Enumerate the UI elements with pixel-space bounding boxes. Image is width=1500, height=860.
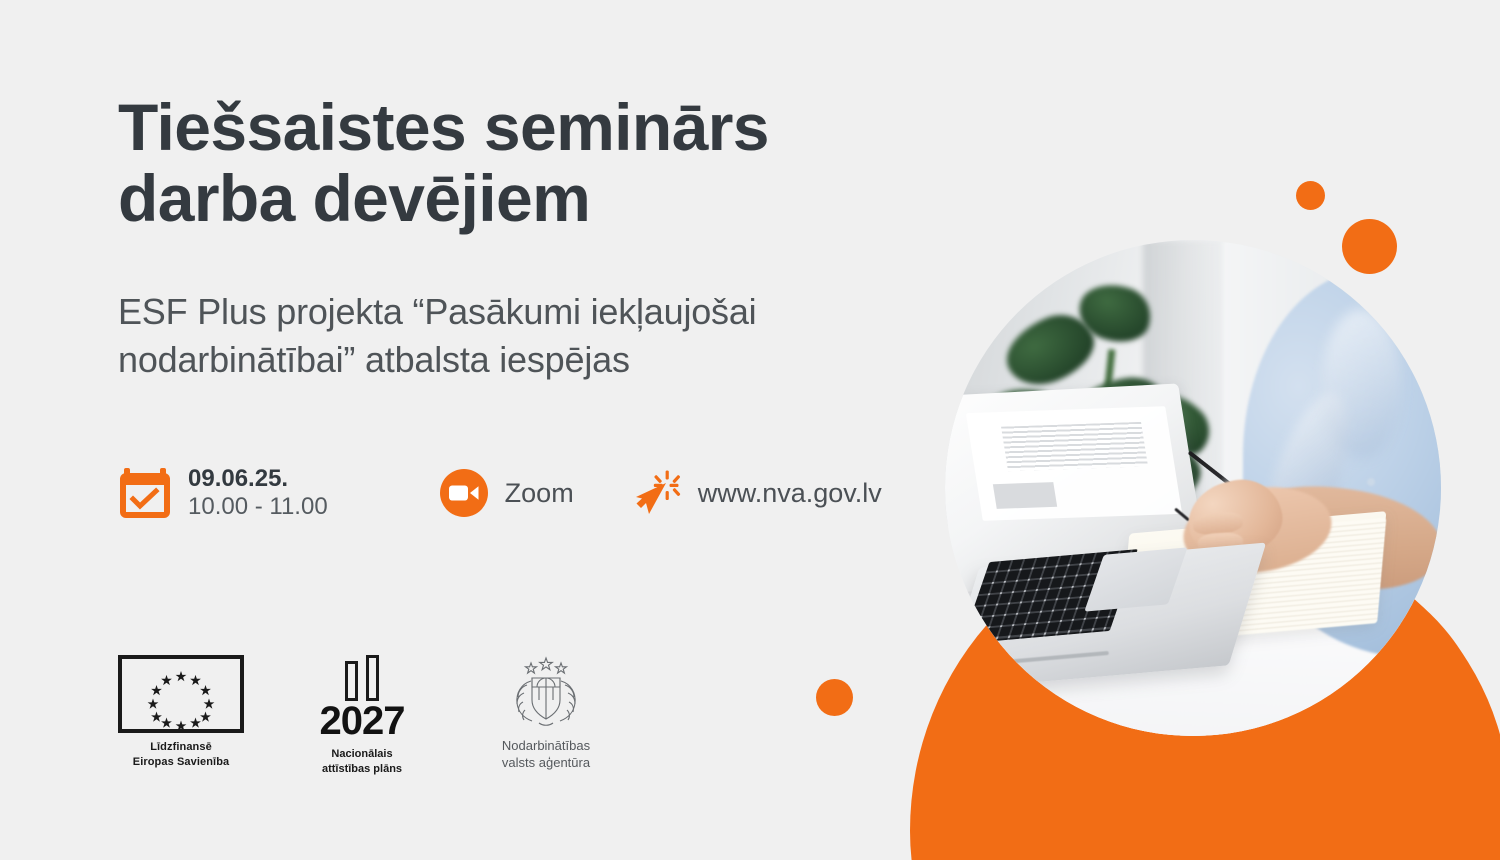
nva-logo: Nodarbinātības valsts aģentūra — [480, 655, 612, 772]
nap-year: 2027 — [320, 701, 405, 741]
calendar-check-icon — [118, 466, 172, 520]
page-subtitle: ESF Plus projekta “Pasākumi iekļaujošai … — [118, 288, 908, 384]
eu-caption-line1: Līdzfinansē — [150, 741, 212, 753]
page-title-line1: Tiešsaistes seminārs — [118, 90, 769, 164]
video-camera-icon — [440, 469, 488, 517]
hero-photo — [945, 240, 1441, 736]
nap-caption-line2: attīstības plāns — [322, 763, 402, 775]
latvia-coat-of-arms-icon — [501, 655, 591, 731]
nva-caption-line2: valsts aģentūra — [502, 755, 590, 770]
event-meta-row: 09.06.25. 10.00 - 11.00 Zoom — [118, 465, 882, 522]
nva-caption-line1: Nodarbinātības — [502, 738, 590, 753]
page-title: Tiešsaistes seminārs darba devējiem — [118, 92, 908, 233]
event-datetime: 09.06.25. 10.00 - 11.00 — [118, 465, 328, 522]
webinar-banner: Tiešsaistes seminārs darba devējiem ESF … — [0, 0, 1500, 860]
national-development-plan-logo: 2027 Nacionālais attīstības plāns — [302, 655, 422, 777]
event-time: 10.00 - 11.00 — [188, 493, 328, 520]
eu-caption-line2: Eiropas Savienība — [133, 756, 229, 768]
content-column: Tiešsaistes seminārs darba devējiem ESF … — [0, 0, 920, 860]
nap-bar-left — [345, 661, 358, 701]
website-label[interactable]: www.nva.gov.lv — [698, 478, 882, 509]
page-title-line2: darba devējiem — [118, 161, 590, 235]
eu-flag-icon — [118, 655, 244, 733]
page-subtitle-line1: ESF Plus projekta “Pasākumi iekļaujošai — [118, 291, 756, 332]
nap-caption-line1: Nacionālais — [331, 748, 392, 760]
page-subtitle-line2: nodarbinātībai” atbalsta iespējas — [118, 339, 630, 380]
decor-dot-small — [1296, 181, 1325, 210]
funder-logo-row: Līdzfinansē Eiropas Savienība 2027 Nacio… — [118, 655, 612, 777]
nap-bar-right — [366, 655, 379, 701]
event-platform: Zoom — [440, 469, 574, 517]
nap-2027-icon — [345, 655, 379, 701]
platform-label: Zoom — [505, 478, 574, 509]
cursor-click-icon — [632, 467, 684, 519]
event-website[interactable]: www.nva.gov.lv — [632, 467, 882, 519]
event-date: 09.06.25. — [188, 465, 288, 492]
eu-funding-logo: Līdzfinansē Eiropas Savienība — [118, 655, 244, 770]
